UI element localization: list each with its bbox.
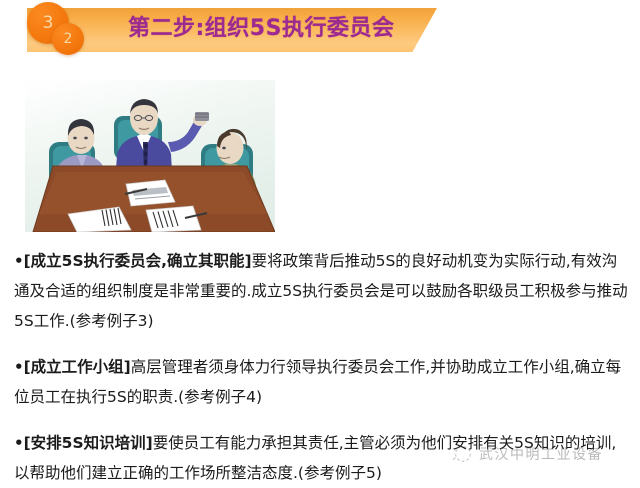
bullet-item: •[成立工作小组]高层管理者须身体力行领导执行委员会工作,并协助成立工作小组,确… [14,352,628,412]
step-circle-2: 2 [52,23,84,55]
meeting-illustration-graphic [25,80,275,232]
page-title: 第二步:组织5S执行委员会 [128,13,428,45]
bullet-lead: [成立5S执行委员会,确立其职能] [24,252,252,270]
bullet-item: •[成立5S执行委员会,确立其职能]要将政策背后推动5S的良好动机变为实际行动,… [14,246,628,336]
bullet-lead: [成立工作小组] [24,358,131,376]
bullet-paragraph: •[安排5S知识培训]要使员工有能力承担其责任,主管必须为他们安排有关5S知识的… [14,428,628,488]
bullet-marker: • [14,252,24,270]
bullet-marker: • [14,358,24,376]
header-banner: 第二步:组织5S执行委员会 3 2 [0,0,640,66]
bullet-item: •[安排5S知识培训]要使员工有能力承担其责任,主管必须为他们安排有关5S知识的… [14,428,628,488]
body-text: •[成立5S执行委员会,确立其职能]要将政策背后推动5S的良好动机变为实际行动,… [14,246,628,488]
bullet-paragraph: •[成立5S执行委员会,确立其职能]要将政策背后推动5S的良好动机变为实际行动,… [14,246,628,336]
bullet-lead: [安排5S知识培训] [24,434,153,452]
bullet-paragraph: •[成立工作小组]高层管理者须身体力行领导执行委员会工作,并协助成立工作小组,确… [14,352,628,412]
meeting-illustration [25,80,275,232]
bullet-marker: • [14,434,24,452]
